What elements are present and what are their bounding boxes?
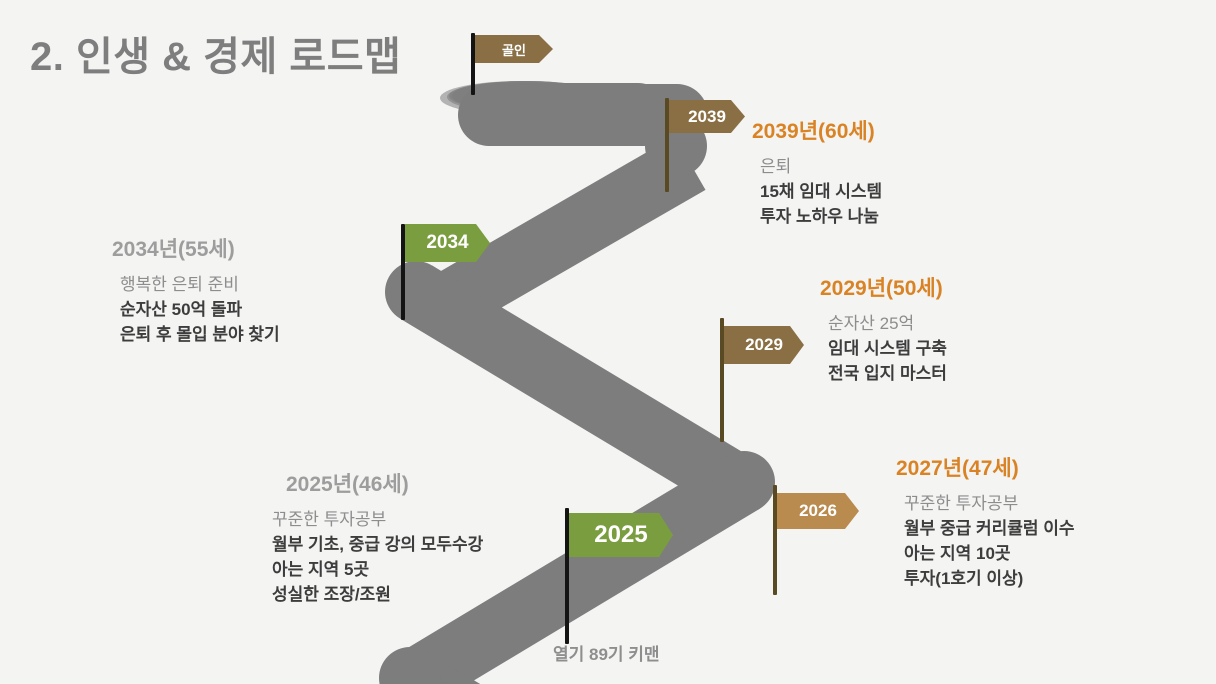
milestone-2029-heading: 2029년(50세) [820, 272, 947, 302]
milestone-2034: 2034년(55세) 행복한 은퇴 준비 순자산 50억 돌파 은퇴 후 몰입 … [112, 233, 280, 347]
milestone-2025: 2025년(46세) 꾸준한 투자공부 월부 기초, 중급 강의 모두수강 아는… [286, 468, 483, 608]
milestone-2027-line-4: 투자(1호기 이상) [904, 566, 1075, 591]
flag-banner-goal: 골인 [475, 35, 553, 63]
milestone-2025-line-2: 월부 기초, 중급 강의 모두수강 [272, 532, 483, 557]
page-title: 2. 인생 & 경제 로드맵 [30, 24, 401, 82]
milestone-2025-line-3: 아는 지역 5곳 [272, 557, 483, 582]
milestone-2039-line-3: 투자 노하우 나눔 [760, 204, 882, 229]
flag-pole-2025 [565, 508, 569, 644]
milestone-2029-line-2: 임대 시스템 구축 [828, 336, 947, 361]
milestone-2039-line-1: 은퇴 [760, 154, 882, 179]
milestone-2034-lines: 행복한 은퇴 준비 순자산 50억 돌파 은퇴 후 몰입 분야 찾기 [112, 272, 280, 347]
milestone-2027-line-2: 월부 중급 커리큘럼 이수 [904, 516, 1075, 541]
flag-banner-2025: 2025 [569, 513, 673, 557]
milestone-2034-line-3: 은퇴 후 몰입 분야 찾기 [120, 322, 280, 347]
flag-pole-2026 [773, 485, 777, 595]
flag-pole-2039 [665, 98, 669, 192]
milestone-2025-line-4: 성실한 조장/조원 [272, 582, 483, 607]
milestone-2027: 2027년(47세) 꾸준한 투자공부 월부 중급 커리큘럼 이수 아는 지역 … [896, 452, 1075, 592]
milestone-2025-line-1: 꾸준한 투자공부 [272, 507, 483, 532]
milestone-2025-lines: 꾸준한 투자공부 월부 기초, 중급 강의 모두수강 아는 지역 5곳 성실한 … [264, 507, 483, 608]
flag-pole-2034 [401, 224, 405, 320]
roadmap-slide: 열기 89기 키맨 2. 인생 & 경제 로드맵 골인 2039 2034 20… [0, 0, 1216, 684]
milestone-2029-line-1: 순자산 25억 [828, 311, 947, 336]
flag-banner-2034: 2034 [405, 224, 490, 262]
milestone-2027-line-3: 아는 지역 10곳 [904, 541, 1075, 566]
milestone-2029: 2029년(50세) 순자산 25억 임대 시스템 구축 전국 입지 마스터 [820, 272, 947, 386]
milestone-2039-line-2: 15채 임대 시스템 [760, 179, 882, 204]
milestone-2039-lines: 은퇴 15채 임대 시스템 투자 노하우 나눔 [752, 154, 882, 229]
milestone-2027-line-1: 꾸준한 투자공부 [904, 491, 1075, 516]
flag-banner-2029: 2029 [724, 326, 804, 364]
flag-pole-2029 [720, 318, 724, 442]
milestone-2034-heading: 2034년(55세) [112, 233, 280, 263]
milestone-2034-line-1: 행복한 은퇴 준비 [120, 272, 280, 297]
milestone-2039: 2039년(60세) 은퇴 15채 임대 시스템 투자 노하우 나눔 [752, 115, 882, 229]
milestone-2027-lines: 꾸준한 투자공부 월부 중급 커리큘럼 이수 아는 지역 10곳 투자(1호기 … [896, 491, 1075, 592]
milestone-2029-line-3: 전국 입지 마스터 [828, 361, 947, 386]
flag-banner-2039: 2039 [669, 100, 745, 133]
milestone-2034-line-2: 순자산 50억 돌파 [120, 297, 280, 322]
road-caption: 열기 89기 키맨 [553, 640, 660, 665]
flag-pole-goal [471, 33, 475, 95]
milestone-2025-heading: 2025년(46세) [286, 468, 483, 498]
milestone-2029-lines: 순자산 25억 임대 시스템 구축 전국 입지 마스터 [820, 311, 947, 386]
flag-banner-2026: 2026 [777, 493, 859, 529]
milestone-2027-heading: 2027년(47세) [896, 452, 1075, 482]
milestone-2039-heading: 2039년(60세) [752, 115, 882, 145]
